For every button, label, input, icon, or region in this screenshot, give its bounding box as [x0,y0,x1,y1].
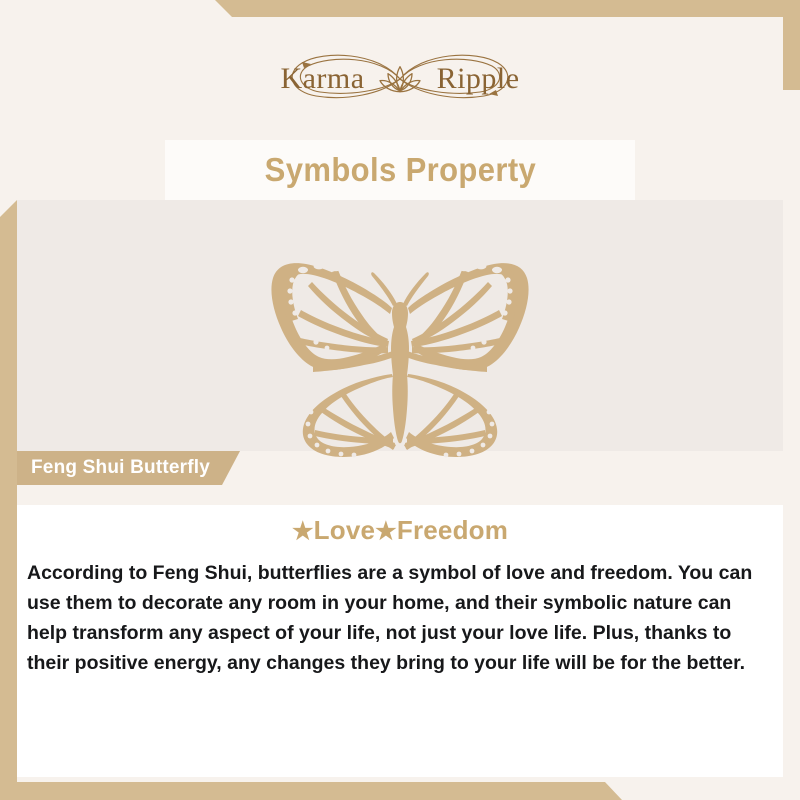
brand-wordmark: Karma Ripple [250,62,550,96]
product-infographic-page: Karma Ripple Symbols Property [0,0,800,800]
illustration-panel [17,200,783,451]
brand-name-right: Ripple [437,62,520,96]
star-icon-right: ★ [375,518,397,545]
keywords-subtitle: ★Love★Freedom [17,515,783,546]
top-right-frame-side [783,0,800,90]
banner-gap-strip [17,485,783,505]
butterfly-illustration [17,200,783,458]
keyword-love: Love [314,515,375,545]
top-right-frame-bar [215,0,800,17]
symbol-name-label: Feng Shui Butterfly [31,457,210,479]
page-title: Symbols Property [264,151,535,189]
keyword-freedom: Freedom [397,515,508,545]
star-icon-left: ★ [292,518,314,545]
description-paragraph: According to Feng Shui, butterflies are … [27,558,773,678]
brand-logo: Karma Ripple [250,46,550,112]
section-title-band: Symbols Property [165,140,635,200]
brand-name-left: Karma [280,62,364,96]
description-card: ★Love★Freedom According to Feng Shui, bu… [17,505,783,777]
bottom-left-frame-side [0,200,17,800]
symbol-name-banner: Feng Shui Butterfly [17,451,240,485]
bottom-left-frame-bar [0,782,622,800]
brand-header: Karma Ripple [17,17,783,140]
butterfly-icon [235,246,565,458]
